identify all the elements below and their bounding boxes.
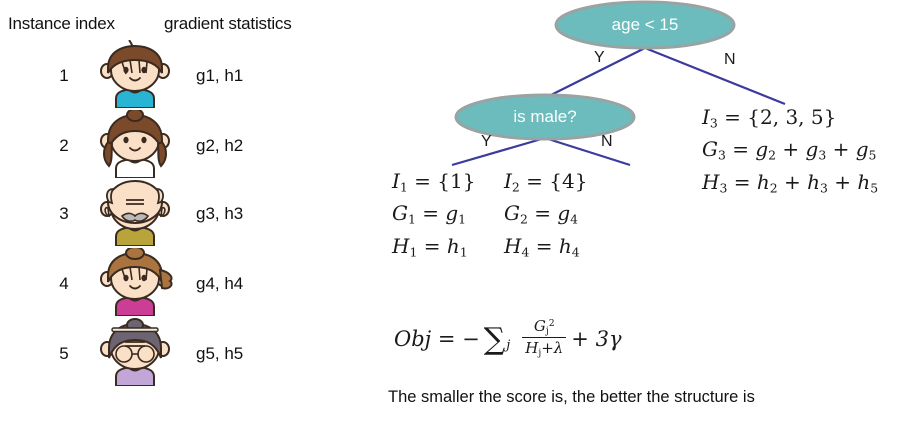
- tree-node-root-label: age < 15: [556, 15, 734, 35]
- leaf-3-instance-set: I3 = {2, 3, 5}: [702, 104, 878, 136]
- girl-avatar-icon: [96, 110, 174, 178]
- edge-label-root-yes: Y: [594, 49, 605, 67]
- caption-text: The smaller the score is, the better the…: [388, 388, 755, 407]
- young-woman-avatar-icon: [96, 248, 174, 316]
- column-header-instance-index: Instance index: [8, 14, 115, 34]
- instance-row: 2g2, h2: [0, 110, 340, 178]
- leaf-2-gradient-sum: G2 = g4: [504, 200, 587, 232]
- leaf-3-hessian-sum: H3 = h2 + h3 + h5: [702, 169, 878, 201]
- objective-plus: +: [571, 327, 589, 351]
- leaf-3-gradient-sum: G3 = g2 + g3 + g5: [702, 136, 878, 168]
- instance-row: 4g4, h4: [0, 248, 340, 316]
- gradient-statistics-value: g2, h2: [196, 136, 243, 156]
- old-man-avatar-icon: [96, 178, 174, 246]
- instance-index-value: 3: [52, 204, 76, 224]
- leaf-1-statistics: I1 = {1} G1 = g1 H1 = h1: [392, 168, 475, 265]
- instance-index-value: 1: [52, 66, 76, 86]
- objective-equals: =: [438, 327, 456, 351]
- leaf-1-gradient-sum: G1 = g1: [392, 200, 475, 232]
- instance-index-value: 2: [52, 136, 76, 156]
- summation-icon: ∑: [484, 322, 505, 357]
- edge-root-no: [645, 48, 785, 104]
- leaf-2-instance-set: I2 = {4}: [504, 168, 587, 200]
- objective-lhs: Obj: [394, 327, 431, 351]
- edge-ismale-yes: [452, 138, 545, 165]
- edge-label-root-no: N: [724, 51, 736, 69]
- instance-row: 1g1, h1: [0, 40, 340, 108]
- edge-ismale-no: [545, 138, 630, 165]
- fraction-numerator: Gj2: [531, 317, 558, 337]
- edge-label-is-male-yes: Y: [481, 133, 492, 151]
- gradient-statistics-value: g3, h3: [196, 204, 243, 224]
- instance-row: 5g5, h5: [0, 318, 340, 386]
- gradient-statistics-value: g5, h5: [196, 344, 243, 364]
- instance-index-value: 4: [52, 274, 76, 294]
- instance-index-value: 5: [52, 344, 76, 364]
- leaf-2-hessian-sum: H4 = h4: [504, 233, 587, 265]
- summation-index: j: [506, 338, 510, 353]
- decision-tree-panel: age < 15 is male? Y N Y N I1 = {1} G1 = …: [340, 0, 920, 421]
- old-woman-avatar-icon: [96, 318, 174, 386]
- instance-table-panel: Instance index gradient statistics 1g1, …: [0, 0, 340, 421]
- objective-fraction: Gj2 Hj+λ: [522, 317, 566, 358]
- tree-node-is-male-label: is male?: [456, 107, 634, 127]
- gradient-statistics-value: g4, h4: [196, 274, 243, 294]
- objective-minus: −: [462, 327, 480, 351]
- gradient-statistics-value: g1, h1: [196, 66, 243, 86]
- leaf-3-statistics: I3 = {2, 3, 5} G3 = g2 + g3 + g5 H3 = h2…: [702, 104, 878, 201]
- instance-row: 3g3, h3: [0, 178, 340, 246]
- fraction-denominator: Hj+λ: [522, 337, 566, 359]
- objective-formula: Obj = − ∑ j Gj2 Hj+λ + 3γ: [394, 318, 622, 359]
- column-header-gradient-statistics: gradient statistics: [164, 14, 292, 34]
- objective-gamma-term: 3γ: [596, 327, 622, 351]
- boy-avatar-icon: [96, 40, 174, 108]
- leaf-2-statistics: I2 = {4} G2 = g4 H4 = h4: [504, 168, 587, 265]
- leaf-1-instance-set: I1 = {1}: [392, 168, 475, 200]
- edge-label-is-male-no: N: [601, 133, 613, 151]
- leaf-1-hessian-sum: H1 = h1: [392, 233, 475, 265]
